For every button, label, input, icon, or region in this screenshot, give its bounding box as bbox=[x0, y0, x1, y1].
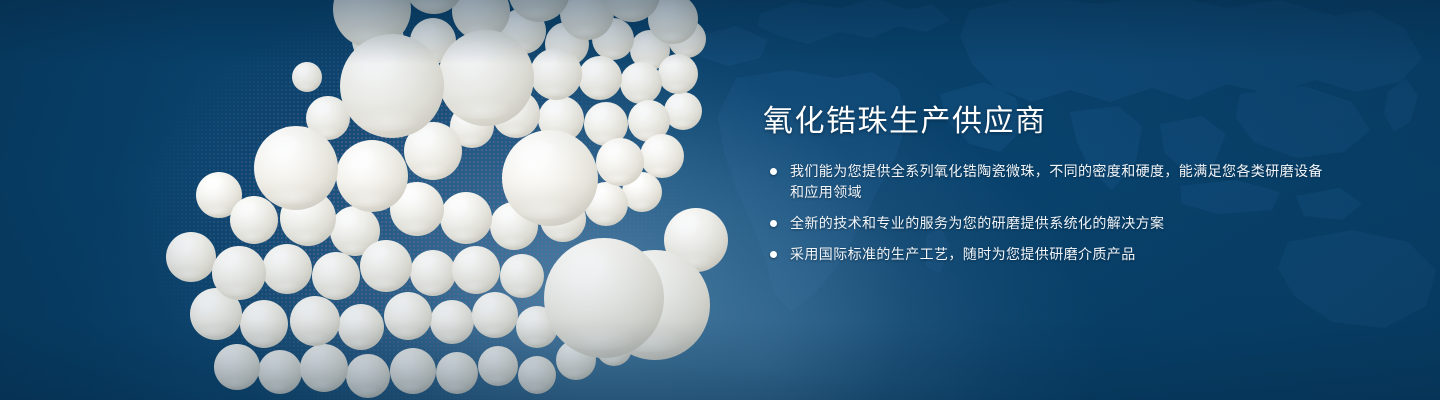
list-item-label: 全新的技术和专业的服务为您的研磨提供系统化的解决方案 bbox=[790, 213, 1323, 234]
hero-banner: 氧化锆珠生产供应商 我们能为您提供全系列氧化锆陶瓷微珠，不同的密度和硬度，能满足… bbox=[0, 0, 1440, 400]
bullet-dot-icon bbox=[770, 168, 777, 175]
list-item: 我们能为您提供全系列氧化锆陶瓷微珠，不同的密度和硬度，能满足您各类研磨设备和应用… bbox=[763, 161, 1323, 203]
banner-copy: 氧化锆珠生产供应商 我们能为您提供全系列氧化锆陶瓷微珠，不同的密度和硬度，能满足… bbox=[763, 104, 1323, 265]
list-item-label: 采用国际标准的生产工艺，随时为您提供研磨介质产品 bbox=[790, 244, 1323, 265]
list-item: 全新的技术和专业的服务为您的研磨提供系统化的解决方案 bbox=[763, 213, 1323, 234]
list-item: 采用国际标准的生产工艺，随时为您提供研磨介质产品 bbox=[763, 244, 1323, 265]
bullet-dot-icon bbox=[770, 220, 777, 227]
page-title: 氧化锆珠生产供应商 bbox=[763, 104, 1323, 139]
list-item-label: 我们能为您提供全系列氧化锆陶瓷微珠，不同的密度和硬度，能满足您各类研磨设备和应用… bbox=[790, 161, 1323, 203]
feature-list: 我们能为您提供全系列氧化锆陶瓷微珠，不同的密度和硬度，能满足您各类研磨设备和应用… bbox=[763, 161, 1323, 265]
bullet-dot-icon bbox=[770, 251, 777, 258]
